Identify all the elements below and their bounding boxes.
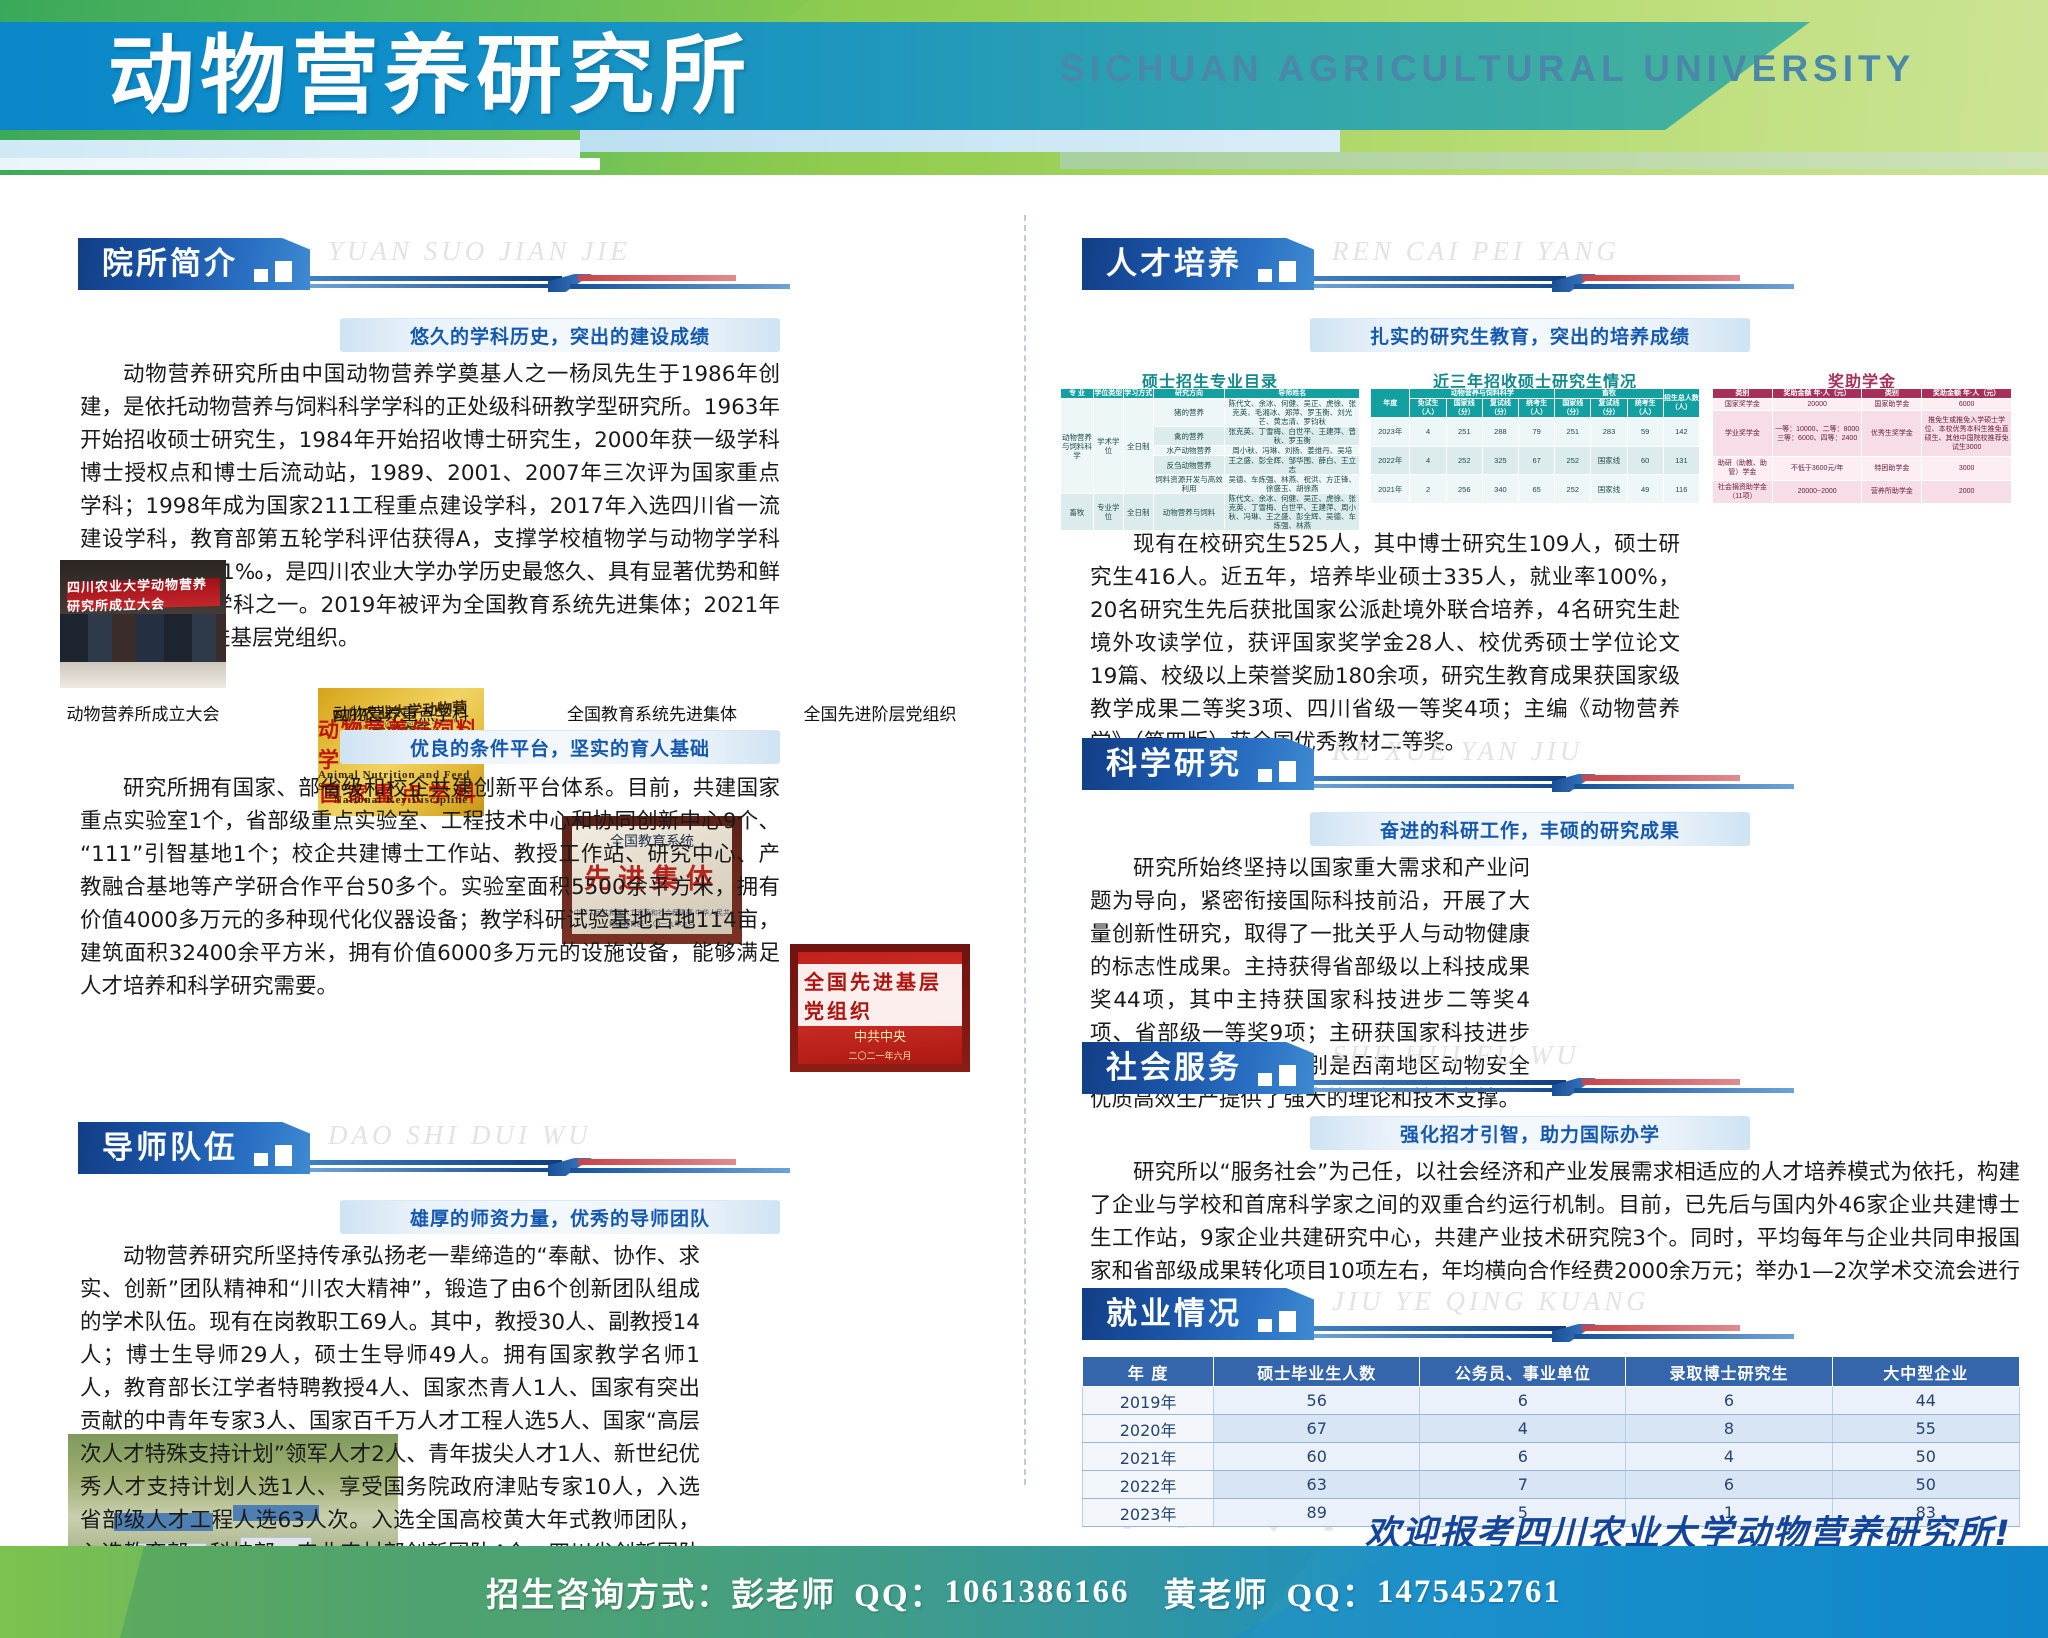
footer-qq-label-2: QQ： — [1287, 1568, 1377, 1616]
section-mentors-header: 导师队伍 DAO SHI DUI WU — [78, 1122, 798, 1174]
cell-value: 4 — [1410, 446, 1446, 475]
footer-qq-label-1: QQ： — [854, 1568, 944, 1616]
cell-mode: 全日制 — [1123, 494, 1153, 531]
section-badge-label: 人才培养 — [1106, 238, 1242, 290]
poster-footer: 招生咨询方式： 彭老师 QQ： 1061386166 黄老师 QQ： 14754… — [0, 1546, 2048, 1638]
section-badge-label: 社会服务 — [1106, 1042, 1242, 1094]
col-major: 专 业 — [1061, 389, 1094, 399]
cell-value: 国家线 — [1591, 475, 1627, 504]
subbanner-research-1: 奋进的科研工作，丰硕的研究成果 — [1310, 812, 1750, 846]
photo-caption-2: 动物营养重点学科 — [318, 700, 484, 725]
cell-year: 2020年 — [1083, 1415, 1214, 1443]
cell-degree: 学术学位 — [1093, 399, 1123, 494]
section-research-header: 科学研究 KE XUE YAN JIU — [1082, 738, 1802, 790]
table-row: 2021年 60 6 4 50 — [1083, 1443, 2020, 1471]
cell-value: 44 — [1832, 1387, 2019, 1415]
cell-value: 国家线 — [1591, 446, 1627, 475]
photo-banner-text: 四川农业大学动物营养研究所成立大会 — [67, 578, 220, 610]
table-row: 畜牧 专业学位 全日制 动物营养与饲料 陈代文、余冰、何健、吴正、虎徐、张克英、… — [1061, 494, 1360, 531]
cell-value: 340 — [1482, 475, 1518, 504]
colgroup-animal-husbandry: 畜牧 — [1555, 389, 1664, 399]
column-divider — [1024, 215, 1026, 1485]
section-badge-talent: 人才培养 — [1082, 238, 1314, 290]
section-intro-header: 院所简介 YUAN SUO JIAN JIE — [78, 238, 798, 290]
col-category-2: 类别 — [1862, 389, 1922, 399]
col-general-exam-2: 统考生（人） — [1627, 399, 1663, 418]
cell-value: 4 — [1420, 1415, 1626, 1443]
section-badge-mentors: 导师队伍 — [78, 1122, 310, 1174]
cell-amount: 2000 — [1922, 480, 2012, 503]
section-badge-label: 科学研究 — [1106, 738, 1242, 790]
section-badge-research: 科学研究 — [1082, 738, 1314, 790]
photo-caption-1: 动物营养所成立大会 — [60, 700, 226, 725]
col-retest-line: 复试线（分） — [1482, 399, 1518, 418]
table-row: 2019年 56 6 6 44 — [1083, 1387, 2020, 1415]
cell-value: 6 — [1420, 1387, 1626, 1415]
cell-category: 学业奖学金 — [1713, 411, 1773, 457]
cell-value: 252 — [1555, 446, 1591, 475]
table-row: 免试生（人） 国家线（分） 复试线（分） 统考生（人） 国家线（分） 复试线（分… — [1371, 399, 1700, 418]
cell-value: 60 — [1214, 1443, 1420, 1471]
cell-value: 283 — [1591, 418, 1627, 447]
cell-year: 2022年 — [1083, 1471, 1214, 1499]
section-service-header: 社会服务 SHE HUI FU WU — [1082, 1042, 1802, 1094]
col-national-line: 国家线（分） — [1446, 399, 1482, 418]
cell-amount: 3000 — [1922, 457, 2012, 480]
cell-value: 56 — [1214, 1387, 1420, 1415]
section-rule-intro — [310, 274, 790, 292]
footer-qq-2: 1475452761 — [1377, 1574, 1562, 1611]
col-civil-service: 公务员、事业单位 — [1420, 1357, 1626, 1387]
cell-major: 动物营养与饲料科学 — [1061, 399, 1094, 494]
subbanner-intro-1-label: 悠久的学科历史，突出的建设成绩 — [410, 322, 710, 349]
section-rule-talent — [1314, 274, 1794, 292]
cell-value: 288 — [1482, 418, 1518, 447]
badge-square-large-icon — [275, 261, 292, 282]
cell-value: 65 — [1519, 475, 1555, 504]
cell-major: 畜牧 — [1061, 494, 1094, 531]
col-degree-type: 学位类型 — [1093, 389, 1123, 399]
subbanner-intro-2-label: 优良的条件平台，坚实的育人基础 — [410, 734, 710, 761]
col-amount-1: 奖助金额 年·人（元） — [1772, 389, 1862, 399]
cell-amount: 一等：10000、二等：8000 三等：6000、四等：2400 — [1772, 411, 1862, 457]
section-employment-header: 就业情况 JIU YE QING KUANG — [1082, 1288, 1802, 1340]
cell-category: 国家助学金 — [1862, 399, 1922, 411]
cell-value: 59 — [1627, 418, 1663, 447]
header-stripe-3 — [1060, 152, 2048, 169]
cell-category: 营养所助学金 — [1862, 480, 1922, 503]
section-rule-employment — [1314, 1324, 1794, 1342]
table-row: 2023年 4 251 288 79 251 283 59 142 — [1371, 418, 1700, 447]
cell-year: 2019年 — [1083, 1387, 1214, 1415]
table-row: 2022年 4 252 325 67 252 国家线 60 131 — [1371, 446, 1700, 475]
section-pinyin-research: KE XUE YAN JIU — [1332, 736, 1583, 767]
cell-value: 325 — [1482, 446, 1518, 475]
cell-year: 2022年 — [1371, 446, 1410, 475]
cell-category: 特困助学金 — [1862, 457, 1922, 480]
footer-label: 招生咨询方式： — [486, 1568, 731, 1616]
table-row: 年度 动物营养与饲料科学 畜牧 招生总人数（人） — [1371, 389, 1700, 399]
subbanner-intro-1: 悠久的学科历史，突出的建设成绩 — [340, 318, 780, 352]
cell-value: 252 — [1446, 446, 1482, 475]
paragraph-intro-2: 研究所拥有国家、部省级和校企共建创新平台体系。目前，共建国家重点实验室1个，省部… — [80, 772, 780, 1003]
section-badge-label: 就业情况 — [1106, 1288, 1242, 1340]
section-talent-header: 人才培养 REN CAI PEI YANG — [1082, 238, 1802, 290]
table-majors: 专 业 学位类型 学习方式 研究方向 导师姓名 动物营养与饲料科学 学术学位 全… — [1060, 388, 1360, 504]
table-row: 助研（助教、助管）学金 不低于3600元/年 特困助学金 3000 — [1713, 457, 2012, 480]
table-employment: 年 度 硕士毕业生人数 公务员、事业单位 录取博士研究生 大中型企业 2019年… — [1082, 1356, 2020, 1527]
col-retest-line-2: 复试线（分） — [1591, 399, 1627, 418]
col-national-line-2: 国家线（分） — [1555, 399, 1591, 418]
cell-direction: 水产动物营养 — [1153, 446, 1225, 456]
photo-caption-4: 全国先进阶层党组织 — [780, 700, 980, 725]
cell-value: 6 — [1626, 1471, 1832, 1499]
cell-direction: 禽的营养 — [1153, 427, 1225, 446]
col-master-graduates: 硕士毕业生人数 — [1214, 1357, 1420, 1387]
cell-amount: 6000 — [1922, 399, 2012, 411]
cell-year: 2021年 — [1371, 475, 1410, 504]
poster-title-cn: 动物营养研究所 — [108, 24, 752, 128]
cell-value: 252 — [1555, 475, 1591, 504]
cell-amount: 不低于3600元/年 — [1772, 457, 1862, 480]
cell-total: 131 — [1663, 446, 1699, 475]
section-rule-research — [1314, 774, 1794, 792]
cell-value: 6 — [1420, 1443, 1626, 1471]
section-pinyin-talent: REN CAI PEI YANG — [1332, 236, 1620, 267]
plaque3-issuer: 中共中央 — [854, 1026, 906, 1045]
photo-caption-3: 全国教育系统先进集体 — [552, 700, 752, 725]
col-large-enterprise: 大中型企业 — [1832, 1357, 2019, 1387]
col-phd-admitted: 录取博士研究生 — [1626, 1357, 1832, 1387]
col-year: 年 度 — [1083, 1357, 1214, 1387]
cell-value: 60 — [1627, 446, 1663, 475]
cell-category: 优秀生奖学金 — [1862, 411, 1922, 457]
photo-founding-ceremony: 四川农业大学动物营养研究所成立大会 — [60, 560, 226, 688]
cell-total: 142 — [1663, 418, 1699, 447]
cell-direction: 反刍动物营养 — [1153, 456, 1225, 475]
table-row: 国家奖学金 20000 国家助学金 6000 — [1713, 399, 2012, 411]
cell-value: 7 — [1420, 1471, 1626, 1499]
cell-value: 8 — [1626, 1415, 1832, 1443]
col-exempt: 免试生（人） — [1410, 399, 1446, 418]
section-badge-employment: 就业情况 — [1082, 1288, 1314, 1340]
col-general-exam: 统考生（人） — [1519, 399, 1555, 418]
subbanner-mentors-1: 雄厚的师资力量，优秀的导师团队 — [340, 1200, 780, 1234]
subbanner-mentors-1-label: 雄厚的师资力量，优秀的导师团队 — [410, 1204, 710, 1231]
cell-value: 50 — [1832, 1443, 2019, 1471]
col-amount-2: 奖助金额 年·人（元） — [1922, 389, 2012, 399]
cell-category: 社会捐资助学金（11项） — [1713, 480, 1773, 503]
cell-advisors: 陈代文、余冰、何健、吴正、虎徐、张克英、丁雪梅、白世平、王建萍、周小秋、冯琳、王… — [1225, 494, 1360, 531]
section-badge-label: 导师队伍 — [102, 1122, 238, 1174]
footer-qq-1: 1061386166 — [945, 1574, 1130, 1611]
plaque3-date: 二〇二一年六月 — [848, 1049, 911, 1062]
colgroup-animal-nutrition: 动物营养与饲料科学 — [1410, 389, 1555, 399]
cell-amount: 20000 — [1772, 399, 1862, 411]
table-row: 2022年 63 7 6 50 — [1083, 1471, 2020, 1499]
section-badge-intro: 院所简介 — [78, 238, 310, 290]
col-study-mode: 学习方式 — [1123, 389, 1153, 399]
cell-value: 63 — [1214, 1471, 1420, 1499]
table-row: 专 业 学位类型 学习方式 研究方向 导师姓名 — [1061, 389, 1360, 399]
table-scholarship: 类别 奖助金额 年·人（元） 类别 奖助金额 年·人（元） 国家奖学金 2000… — [1712, 388, 2012, 504]
header-stripe-2 — [580, 130, 1340, 152]
paragraph-talent-1: 现有在校研究生525人，其中博士研究生109人，硕士研究生416人。近五年，培养… — [1090, 528, 1680, 759]
cell-advisors: 张克英、丁雪梅、白世平、王建萍、曾秋、罗玉衡 — [1225, 427, 1360, 446]
col-research-direction: 研究方向 — [1153, 389, 1225, 399]
col-year: 年度 — [1371, 389, 1410, 418]
cell-total: 116 — [1663, 475, 1699, 504]
cell-amount: 推免生或推免入学硕士学位、本校优秀本科生推免直硕生、其他中国院校推荐免试生300… — [1922, 411, 2012, 457]
cell-value: 256 — [1446, 475, 1482, 504]
cell-value: 2 — [1410, 475, 1446, 504]
cell-mode: 全日制 — [1123, 399, 1153, 494]
col-advisors: 导师姓名 — [1225, 389, 1360, 399]
cell-value: 251 — [1446, 418, 1482, 447]
table-row: 年 度 硕士毕业生人数 公务员、事业单位 录取博士研究生 大中型企业 — [1083, 1357, 2020, 1387]
footer-teacher-1: 彭老师 — [731, 1568, 836, 1616]
cell-value: 49 — [1627, 475, 1663, 504]
photo-party-org-plaque: 全国先进基层党组织 中共中央 二〇二一年六月 — [790, 944, 970, 1072]
poster-header: 动物营养研究所 SICHUAN AGRICULTURAL UNIVERSITY — [0, 0, 2048, 175]
poster-title-en: SICHUAN AGRICULTURAL UNIVERSITY — [1060, 48, 1915, 90]
table-row: 动物营养与饲料科学 学术学位 全日制 猪的营养 陈代文、余冰、何健、吴正、虎徐、… — [1061, 399, 1360, 427]
cell-value: 55 — [1832, 1415, 2019, 1443]
subbanner-research-1-label: 奋进的科研工作，丰硕的研究成果 — [1380, 816, 1680, 843]
poster-root: 动物营养研究所 SICHUAN AGRICULTURAL UNIVERSITY … — [0, 0, 2048, 1638]
table-row: 类别 奖助金额 年·人（元） 类别 奖助金额 年·人（元） — [1713, 389, 2012, 399]
cell-value: 79 — [1519, 418, 1555, 447]
section-pinyin-service: SHE HUI FU WU — [1332, 1040, 1580, 1071]
table-row: 学业奖学金 一等：10000、二等：8000 三等：6000、四等：2400 优… — [1713, 411, 2012, 457]
footer-contact: 招生咨询方式： 彭老师 QQ： 1061386166 黄老师 QQ： 14754… — [0, 1546, 2048, 1638]
section-rule-mentors — [310, 1158, 790, 1176]
plaque3-line-2: 全国先进基层党组织 — [798, 964, 962, 1026]
table-row: 2021年 2 256 340 65 252 国家线 49 116 — [1371, 475, 1700, 504]
section-pinyin-intro: YUAN SUO JIAN JIE — [328, 236, 631, 267]
cell-value: 6 — [1626, 1387, 1832, 1415]
cell-year: 2021年 — [1083, 1443, 1214, 1471]
section-badge-service: 社会服务 — [1082, 1042, 1314, 1094]
section-badge-label: 院所简介 — [102, 238, 238, 290]
cell-advisors: 吴德、车炼强、林燕、祝洪、方正锋、徐盛玉、胡徐燕 — [1225, 475, 1360, 494]
section-pinyin-employment: JIU YE QING KUANG — [1332, 1286, 1650, 1317]
cell-advisors: 王之盛、彭全辉、邹华围、薛白、王立志 — [1225, 456, 1360, 475]
cell-year: 2023年 — [1371, 418, 1410, 447]
table-admissions: 年度 动物营养与饲料科学 畜牧 招生总人数（人） 免试生（人） 国家线（分） 复… — [1370, 388, 1700, 504]
footer-teacher-2: 黄老师 — [1164, 1568, 1269, 1616]
section-pinyin-mentors: DAO SHI DUI WU — [328, 1120, 592, 1151]
cell-degree: 专业学位 — [1093, 494, 1123, 531]
subbanner-talent-1-label: 扎实的研究生教育，突出的培养成绩 — [1370, 322, 1690, 349]
cell-value: 67 — [1214, 1415, 1420, 1443]
badge-square-small-icon — [254, 269, 268, 282]
cell-category: 助研（助教、助管）学金 — [1713, 457, 1773, 480]
header-stripe-4 — [0, 158, 600, 170]
cell-value: 4 — [1410, 418, 1446, 447]
subbanner-service-1: 强化招才引智，助力国际办学 — [1310, 1116, 1750, 1150]
table-row: 2020年 67 4 8 55 — [1083, 1415, 2020, 1443]
cell-value: 4 — [1626, 1443, 1832, 1471]
cell-value: 251 — [1555, 418, 1591, 447]
header-stripe-1 — [0, 140, 580, 158]
subbanner-intro-2: 优良的条件平台，坚实的育人基础 — [340, 730, 780, 764]
section-rule-service — [1314, 1078, 1794, 1096]
cell-year: 2023年 — [1083, 1499, 1214, 1527]
subbanner-service-1-label: 强化招才引智，助力国际办学 — [1400, 1120, 1660, 1147]
cell-advisors: 陈代文、余冰、何健、吴正、虎徐、张克英、毛湘冰、郑萍、罗玉衡、刘光芒、黄志清、罗… — [1225, 399, 1360, 427]
col-category-1: 类别 — [1713, 389, 1773, 399]
cell-value: 50 — [1832, 1471, 2019, 1499]
col-total: 招生总人数（人） — [1663, 389, 1699, 418]
cell-value: 67 — [1519, 446, 1555, 475]
cell-direction: 饲料资源开发与高效利用 — [1153, 475, 1225, 494]
subbanner-talent-1: 扎实的研究生教育，突出的培养成绩 — [1310, 318, 1750, 352]
cell-direction: 猪的营养 — [1153, 399, 1225, 427]
table-row: 社会捐资助学金（11项） 20000~2000 营养所助学金 2000 — [1713, 480, 2012, 503]
cell-advisors: 周小秋、冯琳、刘扬、姜维丹、吴培 — [1225, 446, 1360, 456]
cell-category: 国家奖学金 — [1713, 399, 1773, 411]
cell-direction: 动物营养与饲料 — [1153, 494, 1225, 531]
cell-amount: 20000~2000 — [1772, 480, 1862, 503]
